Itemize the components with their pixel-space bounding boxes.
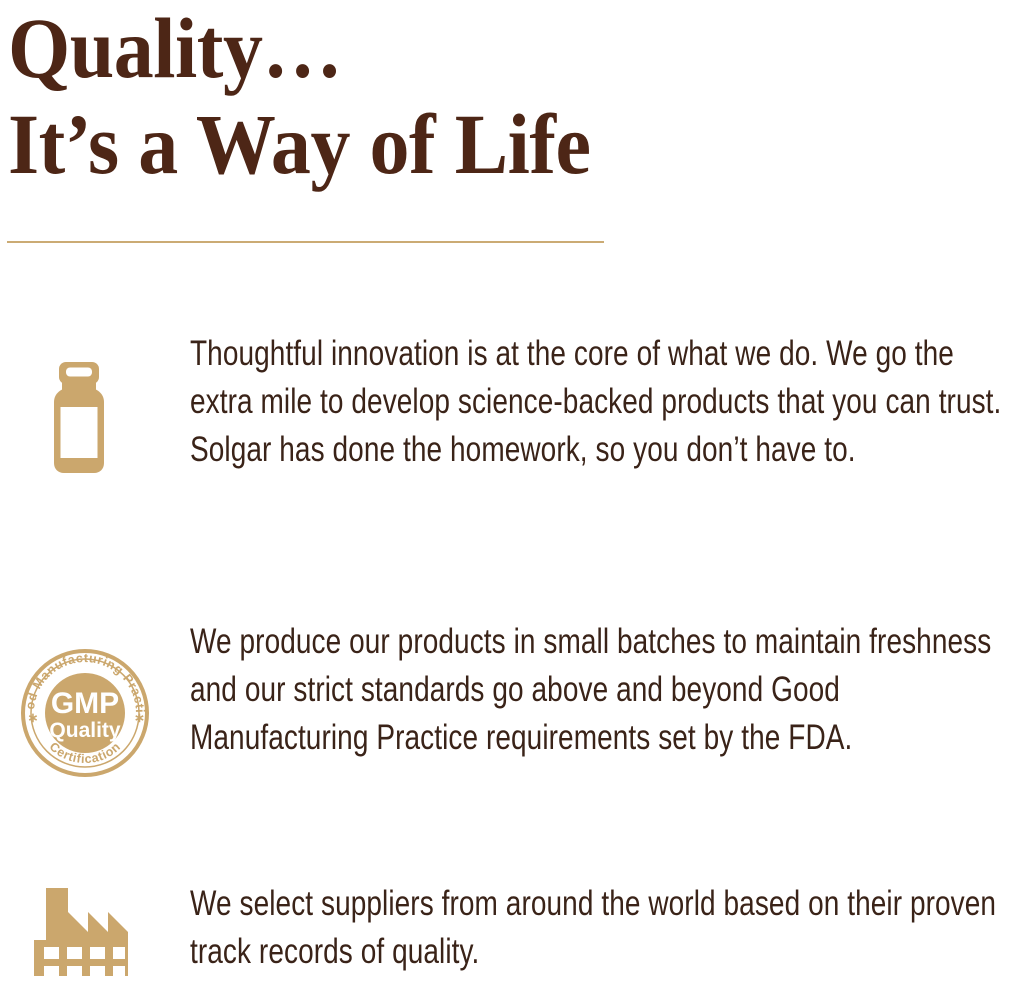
page-title-line-1: Quality… [8,2,845,94]
page-title: Quality… It’s a Way of Life [8,2,908,190]
feature-icon-cell-suppliers [0,880,190,976]
feature-text-cell-gmp: We produce our products in small batches… [190,618,1024,762]
feature-text-cell-suppliers: We select suppliers from around the worl… [190,880,1024,976]
divider-rule [7,241,604,243]
feature-icon-cell-gmp: Good Manufacturing Practice Certificatio… [0,618,190,784]
gmp-center-line-1: GMP [51,687,119,720]
gmp-star-left-icon: ∗ [28,710,39,725]
gmp-quality-seal-icon: Good Manufacturing Practice Certificatio… [14,642,156,784]
page-title-line-2: It’s a Way of Life [8,98,845,190]
gmp-star-right-icon: ∗ [134,710,145,725]
feature-row-gmp: Good Manufacturing Practice Certificatio… [0,618,1024,784]
gmp-center-line-2: Quality [49,719,121,742]
feature-text-innovation: Thoughtful innovation is at the core of … [190,330,1020,474]
feature-text-gmp: We produce our products in small batches… [190,618,1020,762]
feature-icon-cell-innovation [0,330,190,474]
feature-row-suppliers: We select suppliers from around the worl… [0,880,1024,976]
feature-text-suppliers: We select suppliers from around the worl… [190,880,1020,976]
feature-row-innovation: Thoughtful innovation is at the core of … [0,330,1024,474]
factory-icon [30,888,132,976]
supplement-bottle-icon [43,362,115,474]
feature-text-cell-innovation: Thoughtful innovation is at the core of … [190,330,1024,474]
